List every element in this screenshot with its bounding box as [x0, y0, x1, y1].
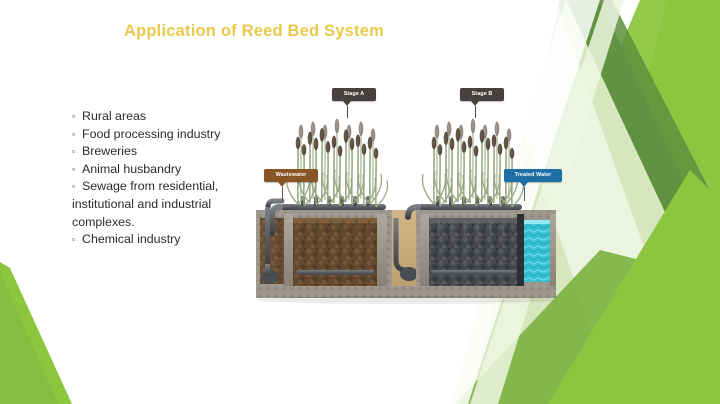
label-treated-water-stem	[524, 187, 525, 201]
list-item-label: institutional and industrial	[72, 197, 211, 211]
stage-a-inlet-vertical	[265, 207, 270, 265]
transfer-sump	[400, 267, 418, 281]
label-wastewater: Wastewater	[264, 169, 318, 182]
label-stage-a-text: Stage A	[344, 91, 365, 97]
stage-b-drain-pipe	[432, 270, 516, 275]
list-item: ▫Breweries	[72, 143, 258, 161]
list-item-label: Rural areas	[82, 109, 146, 123]
bullet-marker-icon: ▫	[72, 178, 82, 196]
decor-shape-bottom-left	[0, 262, 72, 404]
treated-water-surface	[524, 220, 550, 224]
list-item-label: Food processing industry	[82, 127, 220, 141]
stage-b-outer-right-wall	[550, 214, 556, 290]
stage-a-divider-wall	[284, 214, 293, 290]
list-item: ▫Rural areas	[72, 108, 258, 126]
list-item: ▫Animal husbandry	[72, 161, 258, 179]
label-wastewater-text: Wastewater	[276, 172, 307, 178]
stage-b-reed-plants	[422, 119, 523, 207]
stage-b-manifold-header	[418, 204, 522, 210]
stage-a-filter-medium	[293, 218, 377, 286]
bullet-marker-icon: ▫	[72, 126, 82, 144]
list-item-label: Chemical industry	[82, 232, 180, 246]
stage-b-left-wall	[420, 214, 429, 290]
bullet-list: ▫Rural areas ▫Food processing industry ▫…	[72, 108, 258, 249]
bullet-marker-icon: ▫	[72, 108, 82, 126]
list-item-label: Animal husbandry	[82, 162, 181, 176]
list-item-continuation: institutional and industrial	[72, 196, 258, 214]
bullet-marker-icon: ▫	[72, 161, 82, 179]
label-stage-a: Stage A	[332, 88, 376, 101]
page-title: Application of Reed Bed System	[124, 22, 384, 41]
stage-b-weir-wall	[517, 214, 524, 290]
label-stage-b: Stage B	[460, 88, 504, 101]
stage-a-drain-pipe	[296, 270, 374, 275]
assembly-shadow	[256, 296, 556, 304]
list-item: ▫Sewage from residential,	[72, 178, 258, 196]
treated-water-basin	[524, 220, 550, 282]
stage-a-manifold-header	[280, 204, 386, 210]
bullet-marker-icon: ▫	[72, 231, 82, 249]
stage-a-right-wall	[377, 214, 387, 290]
label-treated-water-text: Treated Water	[515, 172, 552, 178]
list-item: ▫Food processing industry	[72, 126, 258, 144]
list-item-label: Breweries	[82, 144, 137, 158]
list-item-label: Sewage from residential,	[82, 179, 218, 193]
decor-shape-bottom-left-soft	[0, 272, 58, 404]
stage-a-inlet-foot	[265, 264, 270, 276]
label-treated-water: Treated Water	[504, 169, 562, 182]
list-item: ▫Chemical industry	[72, 231, 258, 249]
reed-bed-system-diagram: Stage A Stage B Wastewater Treated Water	[246, 68, 568, 330]
bullet-marker-icon: ▫	[72, 143, 82, 161]
label-stage-b-stem	[475, 106, 476, 118]
stage-a-reed-plants	[286, 119, 387, 207]
slide-canvas: Application of Reed Bed System ▫Rural ar…	[0, 0, 720, 404]
decor-shape-bright-right	[560, 0, 720, 404]
list-item-label: complexes.	[72, 215, 135, 229]
list-item-continuation: complexes.	[72, 214, 258, 232]
decor-shape-bright-lower	[548, 170, 720, 404]
label-wastewater-stem	[282, 187, 283, 201]
label-stage-a-stem	[347, 106, 348, 118]
label-stage-b-text: Stage B	[472, 91, 493, 97]
